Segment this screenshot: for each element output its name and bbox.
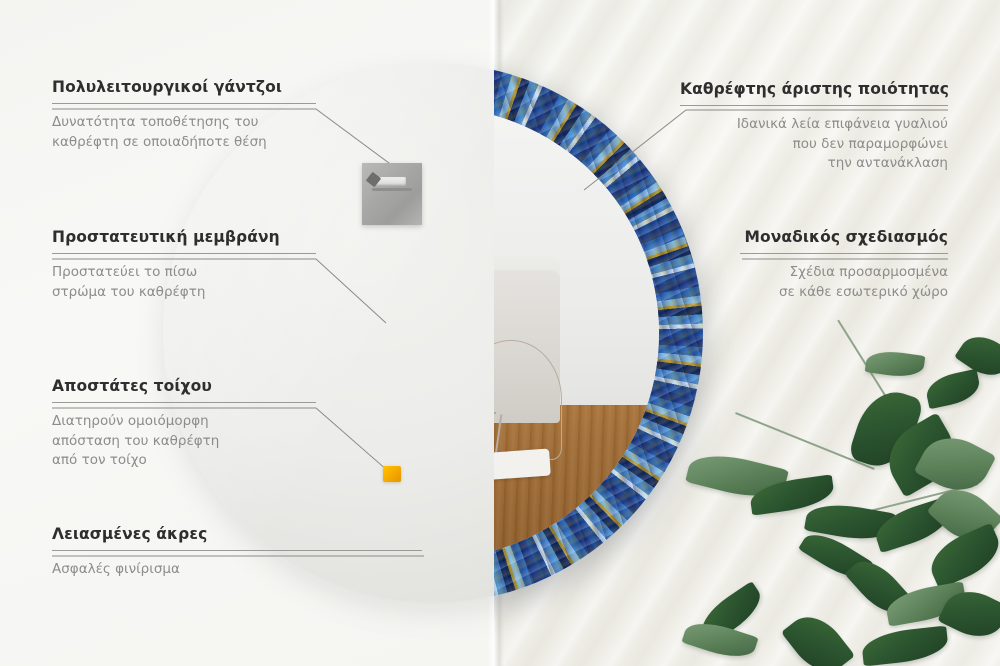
feature-rule — [680, 105, 948, 106]
feature-block-hooks: Πολυλειτουργικοί γάντζοι Δυνατότητα τοπο… — [52, 78, 316, 152]
feature-block-design: Μοναδικός σχεδιασμός Σχέδια προσαρμοσμέν… — [740, 228, 948, 302]
mirror-glass-reflection — [494, 107, 659, 559]
feature-description: Διατηρούν ομοιόμορφηαπόσταση του καθρέφτ… — [52, 412, 316, 471]
hook-plate-detail — [362, 163, 422, 225]
mirror-agate-frame — [494, 63, 703, 603]
hook-bar — [372, 188, 412, 191]
feature-description: Προστατεύει το πίσωστρώμα του καθρέφτη — [52, 263, 316, 302]
feature-title: Μοναδικός σχεδιασμός — [740, 228, 948, 246]
feature-description: Ιδανικά λεία επιφάνεια γυαλιούπου δεν πα… — [680, 115, 948, 174]
feature-rule — [52, 550, 422, 551]
feature-title: Αποστάτες τοίχου — [52, 377, 316, 395]
infographic-stage: Πολυλειτουργικοί γάντζοι Δυνατότητα τοπο… — [0, 0, 1000, 666]
feature-title: Προστατευτική μεμβράνη — [52, 228, 316, 246]
feature-title: Πολυλειτουργικοί γάντζοι — [52, 78, 316, 96]
reflected-cushion — [494, 448, 551, 480]
feature-block-membrane: Προστατευτική μεμβράνη Προστατεύει το πί… — [52, 228, 316, 302]
feature-description: Δυνατότητα τοποθέτησης τουκαθρέφτη σε οπ… — [52, 113, 316, 152]
feature-block-quality: Καθρέφτης άριστης ποιότητας Ιδανικά λεία… — [680, 80, 948, 174]
feature-title: Λειασμένες άκρες — [52, 525, 422, 543]
feature-block-spacers: Αποστάτες τοίχου Διατηρούν ομοιόμορφηαπό… — [52, 377, 316, 471]
feature-rule — [52, 103, 316, 104]
hook-slot-icon — [372, 177, 406, 186]
feature-rule — [52, 402, 316, 403]
feature-block-edges: Λειασμένες άκρες Ασφαλές φινίρισμα — [52, 525, 422, 580]
feature-rule — [740, 253, 948, 254]
feature-description: Σχέδια προσαρμοσμένασε κάθε εσωτερικό χώ… — [740, 263, 948, 302]
wall-spacer-detail — [383, 466, 401, 482]
feature-description: Ασφαλές φινίρισμα — [52, 560, 422, 580]
feature-title: Καθρέφτης άριστης ποιότητας — [680, 80, 948, 98]
feature-rule — [52, 253, 316, 254]
